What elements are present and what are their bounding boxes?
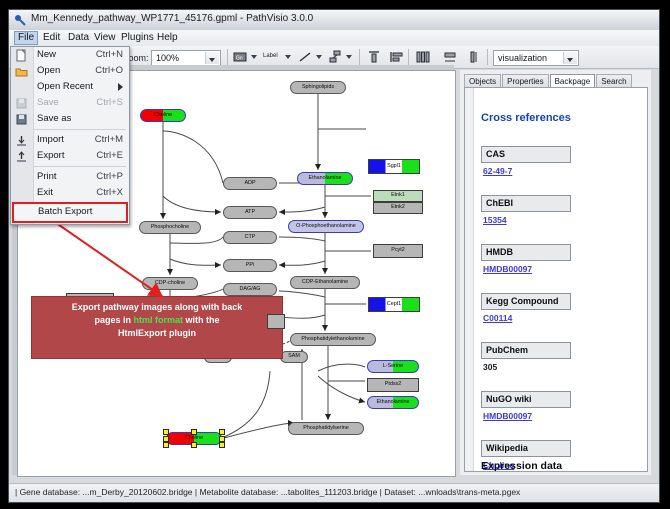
align-top-icon[interactable] — [366, 49, 382, 65]
menu-data[interactable]: Data — [64, 31, 93, 45]
import-icon — [15, 134, 28, 147]
status-text: | Gene database: ...m_Derby_20120602.bri… — [15, 487, 520, 497]
xref-db-box: PubChem — [481, 342, 571, 359]
zoom-value: 100% — [156, 53, 179, 63]
menu-item-open-recent-label: Open Recent — [37, 81, 93, 92]
zoom-combo[interactable]: 100% — [151, 50, 221, 66]
interaction-icon[interactable] — [327, 49, 343, 65]
align-left-icon[interactable] — [389, 49, 405, 65]
pathvisio-app-icon — [14, 14, 26, 26]
title-bar: Mm_Kennedy_pathway_WP1771_45176.gpml - P… — [9, 10, 659, 31]
menu-item-open[interactable]: Open Ctrl+O — [11, 63, 129, 79]
chevron-right-icon — [118, 83, 123, 91]
menu-item-new-label: New — [37, 49, 56, 60]
xref-link[interactable]: 62-49-7 — [483, 166, 512, 176]
tab-search[interactable]: Search — [596, 74, 631, 88]
menu-item-export[interactable]: Export Ctrl+E — [11, 148, 129, 164]
xref-db-box: NuGO wiki — [481, 391, 571, 408]
menu-item-save-as[interactable]: Save as — [11, 111, 129, 127]
label-dropdown-label: Label — [263, 53, 278, 59]
menu-item-print-shortcut: Ctrl+P — [96, 171, 123, 182]
menu-item-open-shortcut: Ctrl+O — [95, 65, 123, 76]
menu-item-new-shortcut: Ctrl+N — [96, 49, 123, 60]
tab-properties[interactable]: Properties — [502, 74, 548, 88]
xref-db-label: NuGO wiki — [486, 394, 532, 404]
xref-link[interactable]: 15354 — [483, 215, 507, 225]
xref-db-label: Wikipedia — [486, 443, 528, 453]
xref-db-label: ChEBI — [486, 198, 513, 208]
menu-item-print-label: Print — [37, 171, 57, 182]
export-icon — [15, 150, 28, 163]
menu-item-import-shortcut: Ctrl+M — [95, 134, 123, 145]
xref-db-box: Wikipedia — [481, 440, 571, 457]
xref-db-box: Kegg Compound — [481, 293, 571, 310]
menu-plugins[interactable]: Plugins — [117, 31, 158, 45]
pathway-small-node[interactable] — [267, 314, 285, 329]
save-disk-icon — [15, 97, 28, 110]
stack-icon[interactable] — [468, 49, 484, 65]
menu-item-save: Save Ctrl+S — [11, 95, 129, 111]
xref-link[interactable]: HMDB00097 — [483, 411, 532, 421]
menu-item-print[interactable]: Print Ctrl+P — [11, 169, 129, 185]
svg-text:Gn: Gn — [236, 56, 243, 62]
menu-item-save-label: Save — [37, 97, 59, 108]
menu-item-export-label: Export — [37, 150, 64, 161]
xref-db-label: Kegg Compound — [486, 296, 559, 306]
sidebar: Objects Properties Backpage Search Legen… — [460, 70, 651, 475]
menu-item-exit-label: Exit — [37, 187, 53, 198]
menu-item-export-shortcut: Ctrl+E — [96, 150, 123, 161]
open-folder-icon — [15, 65, 28, 78]
line-icon[interactable] — [297, 49, 313, 65]
menu-item-batch-export[interactable]: Batch Export — [12, 202, 128, 223]
expression-data-heading: Expression data — [481, 460, 562, 472]
pathvisio-window: Mm_Kennedy_pathway_WP1771_45176.gpml - P… — [8, 9, 660, 503]
menu-item-save-as-label: Save as — [37, 113, 71, 124]
line-dropdown-icon[interactable] — [316, 55, 322, 59]
xref-db-label: CAS — [486, 149, 505, 159]
status-bar: | Gene database: ...m_Derby_20120602.bri… — [9, 483, 659, 502]
xref-db-box: HMDB — [481, 244, 571, 261]
interaction-dropdown-icon[interactable] — [346, 55, 352, 59]
menu-item-open-recent[interactable]: Open Recent — [11, 79, 129, 95]
datanode-icon[interactable]: Gn — [232, 49, 248, 65]
menu-item-batch-export-label: Batch Export — [38, 206, 92, 217]
menu-item-save-shortcut: Ctrl+S — [96, 97, 123, 108]
visualization-combo[interactable]: visualization — [493, 50, 579, 66]
xref-db-label: HMDB — [486, 247, 513, 257]
distribute-icon[interactable] — [415, 49, 431, 65]
cross-references-heading: Cross references — [481, 112, 571, 124]
menu-item-exit-shortcut: Ctrl+X — [96, 187, 123, 198]
menu-item-open-label: Open — [37, 65, 60, 76]
menu-bar: File Edit Data View Plugins Help — [9, 30, 659, 47]
menu-help[interactable]: Help — [153, 31, 182, 45]
label-dropdown-icon[interactable] — [285, 55, 291, 59]
xref-db-box: CAS — [481, 146, 571, 163]
sidebar-tabstrip: Objects Properties Backpage Search Legen… — [464, 74, 651, 88]
xref-value: 305 — [483, 362, 497, 372]
xref-link[interactable]: HMDB00097 — [483, 264, 532, 274]
menu-file[interactable]: File — [14, 31, 38, 45]
menu-view[interactable]: View — [90, 31, 120, 45]
menu-item-import-label: Import — [37, 134, 64, 145]
common-width-icon[interactable] — [442, 49, 458, 65]
xref-link[interactable]: C00114 — [483, 313, 512, 323]
window-title: Mm_Kennedy_pathway_WP1771_45176.gpml - P… — [31, 13, 313, 24]
xref-db-box: ChEBI — [481, 195, 571, 212]
menu-item-import[interactable]: Import Ctrl+M — [11, 132, 129, 148]
backpage-panel: Cross references CAS62-49-7ChEBI15354HMD… — [464, 87, 648, 472]
file-menu-popup[interactable]: New Ctrl+N Open Ctrl+O Open Recent Save … — [10, 46, 130, 225]
menu-edit[interactable]: Edit — [39, 31, 64, 45]
xref-db-label: PubChem — [486, 345, 528, 355]
new-document-icon — [15, 49, 28, 62]
visualization-value: visualization — [498, 53, 547, 63]
visualization-chevron-icon[interactable] — [563, 52, 577, 64]
tab-objects[interactable]: Objects — [464, 74, 501, 88]
menu-item-exit[interactable]: Exit Ctrl+X — [11, 185, 129, 201]
chevron-down-icon[interactable] — [205, 52, 219, 64]
backpage-scrollbar[interactable] — [465, 88, 474, 471]
save-as-icon — [15, 113, 28, 126]
screenshot-frame: Mm_Kennedy_pathway_WP1771_45176.gpml - P… — [0, 0, 670, 509]
datanode-dropdown-icon[interactable] — [251, 55, 257, 59]
menu-item-new[interactable]: New Ctrl+N — [11, 47, 129, 63]
